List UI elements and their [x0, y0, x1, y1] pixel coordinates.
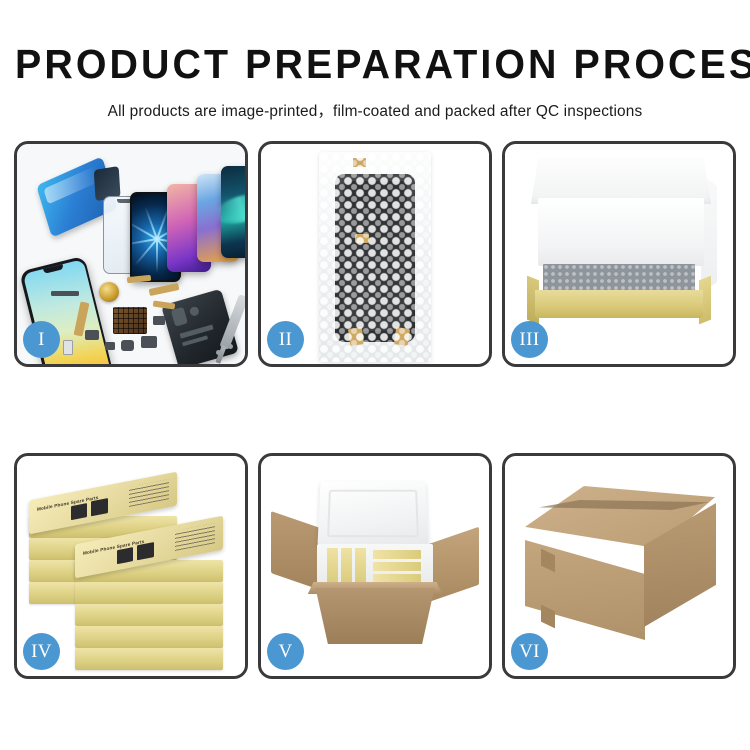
packed-box [355, 548, 366, 586]
step-numeral-badge-5: V [267, 633, 304, 670]
phone-teal-icon [221, 166, 245, 258]
packed-box [373, 574, 421, 583]
box-front-panel-icon [535, 290, 703, 318]
foam-lid-icon [317, 481, 428, 546]
part-small-icon [105, 342, 115, 350]
stacked-box [75, 604, 223, 626]
foam-sheet-icon [538, 198, 704, 266]
process-step-panel-1: I [14, 141, 248, 367]
step-numeral-badge-3: III [511, 321, 548, 358]
process-step-panel-4: Mobile Phone Spare Parts Mobile Phone Sp… [14, 453, 248, 679]
header: PRODUCT PREPARATION PROCESS All products… [0, 0, 750, 121]
bubble-sheet-icon [543, 264, 695, 292]
part-camera-icon [141, 336, 157, 348]
part-strip-icon [51, 291, 79, 296]
packed-box [341, 548, 352, 586]
step-numeral-badge-6: VI [511, 633, 548, 670]
packed-box [373, 562, 421, 571]
packed-box [327, 548, 338, 586]
page-subtitle: All products are image-printed，film-coat… [0, 85, 750, 121]
process-step-grid: I II [14, 141, 736, 689]
carton-flap-left-icon [271, 511, 323, 591]
screw-2-icon [216, 350, 221, 355]
screw-icon [228, 344, 233, 349]
process-step-panel-3: III [502, 141, 736, 367]
step-numeral-badge-2: II [267, 321, 304, 358]
part-block-icon [85, 330, 99, 340]
sim-tray-icon [63, 340, 73, 355]
box-label-text: Mobile Phone Spare Parts [83, 539, 144, 556]
step-numeral-badge-4: IV [23, 633, 60, 670]
bubble-bag-icon [319, 152, 431, 362]
speaker-coil-icon [99, 282, 119, 302]
page-title: PRODUCT PREPARATION PROCESS [15, 0, 735, 85]
stacked-box [75, 626, 223, 648]
product-preparation-infographic: PRODUCT PREPARATION PROCESS All products… [0, 0, 750, 750]
stacked-box [75, 582, 223, 604]
stacked-box [75, 648, 223, 670]
carton-body-icon [313, 588, 437, 644]
part-ic-icon [153, 316, 165, 325]
process-step-panel-6: VI [502, 453, 736, 679]
packed-box [373, 550, 421, 559]
flex-ribbon-icon [149, 283, 180, 296]
process-step-panel-2: II [258, 141, 492, 367]
step-numeral-badge-1: I [23, 321, 60, 358]
part-button-icon [121, 340, 134, 351]
process-step-panel-5: V [258, 453, 492, 679]
chip-array-icon [113, 307, 147, 334]
box-label-text: Mobile Phone Spare Parts [37, 495, 98, 512]
